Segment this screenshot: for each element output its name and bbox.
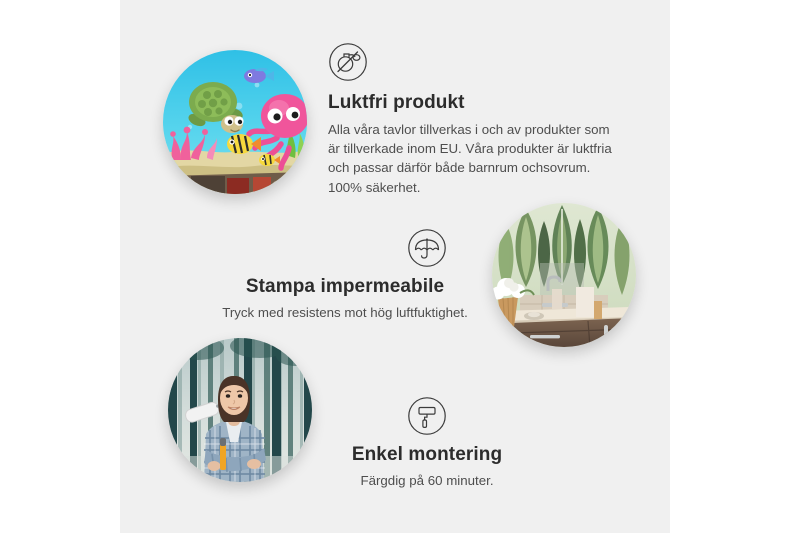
feature-description: Alla våra tavlor tillverkas i och av pro… [328, 120, 624, 197]
icon-wrap-mounting [292, 396, 562, 436]
paint-roller-icon [407, 396, 447, 436]
feature-odour-free: Luktfri produkt Alla våra tavlor tillver… [328, 42, 624, 197]
feature-title: Enkel montering [292, 443, 562, 467]
feature-description: Färgdig på 60 minuter. [292, 471, 562, 490]
icon-wrap-waterproof [205, 228, 485, 268]
promo-infographic: Luktfri produkt Alla våra tavlor tillver… [0, 0, 800, 533]
feature-waterproof-print: Stampa impermeabile Tryck med resistens … [205, 228, 485, 322]
icon-wrap-odour [328, 42, 624, 82]
no-odour-perfume-bottle-icon [328, 42, 368, 82]
umbrella-icon [407, 228, 447, 268]
feature-description: Tryck med resistens mot hög luftfuktighe… [205, 303, 485, 322]
feature-title: Stampa impermeabile [205, 275, 485, 299]
feature-title: Luktfri produkt [328, 91, 624, 115]
feature-easy-mounting: Enkel montering Färgdig på 60 minuter. [292, 396, 562, 490]
photo-forest-installer [168, 338, 312, 482]
photo-bathroom-botanical [492, 203, 636, 347]
photo-ocean-mural [163, 50, 307, 194]
